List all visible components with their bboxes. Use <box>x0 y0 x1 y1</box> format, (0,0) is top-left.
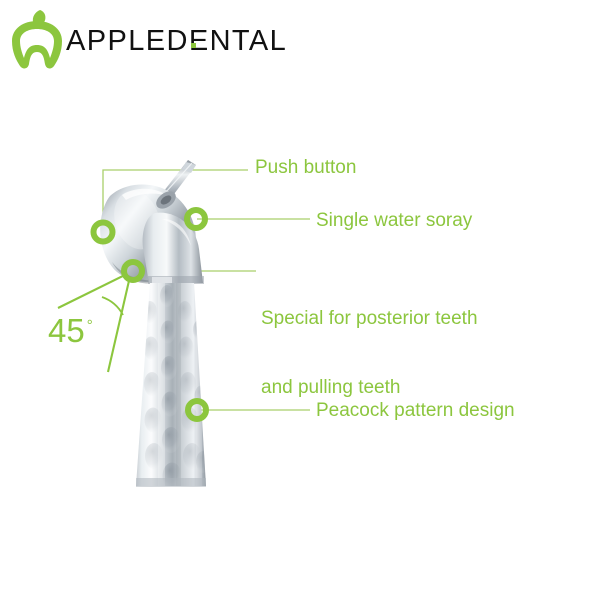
marker-water-spray <box>187 210 205 228</box>
handpiece-body <box>136 283 210 490</box>
degree-symbol: ° <box>87 317 93 334</box>
handpiece-neck <box>143 213 204 284</box>
angle-number: 45 <box>48 312 85 349</box>
callout-label-posterior-line1: Special for posterior teeth <box>261 307 478 330</box>
callout-label-water-spray: Single water soray <box>316 209 472 232</box>
callout-label-push-button: Push button <box>255 156 356 179</box>
callout-label-peacock: Peacock pattern design <box>316 399 515 422</box>
angle-value-label: 45° <box>48 309 93 347</box>
product-feature-diagram: APPLEDENTAL <box>0 0 600 600</box>
callout-label-posterior-line2: and pulling teeth <box>261 376 478 399</box>
